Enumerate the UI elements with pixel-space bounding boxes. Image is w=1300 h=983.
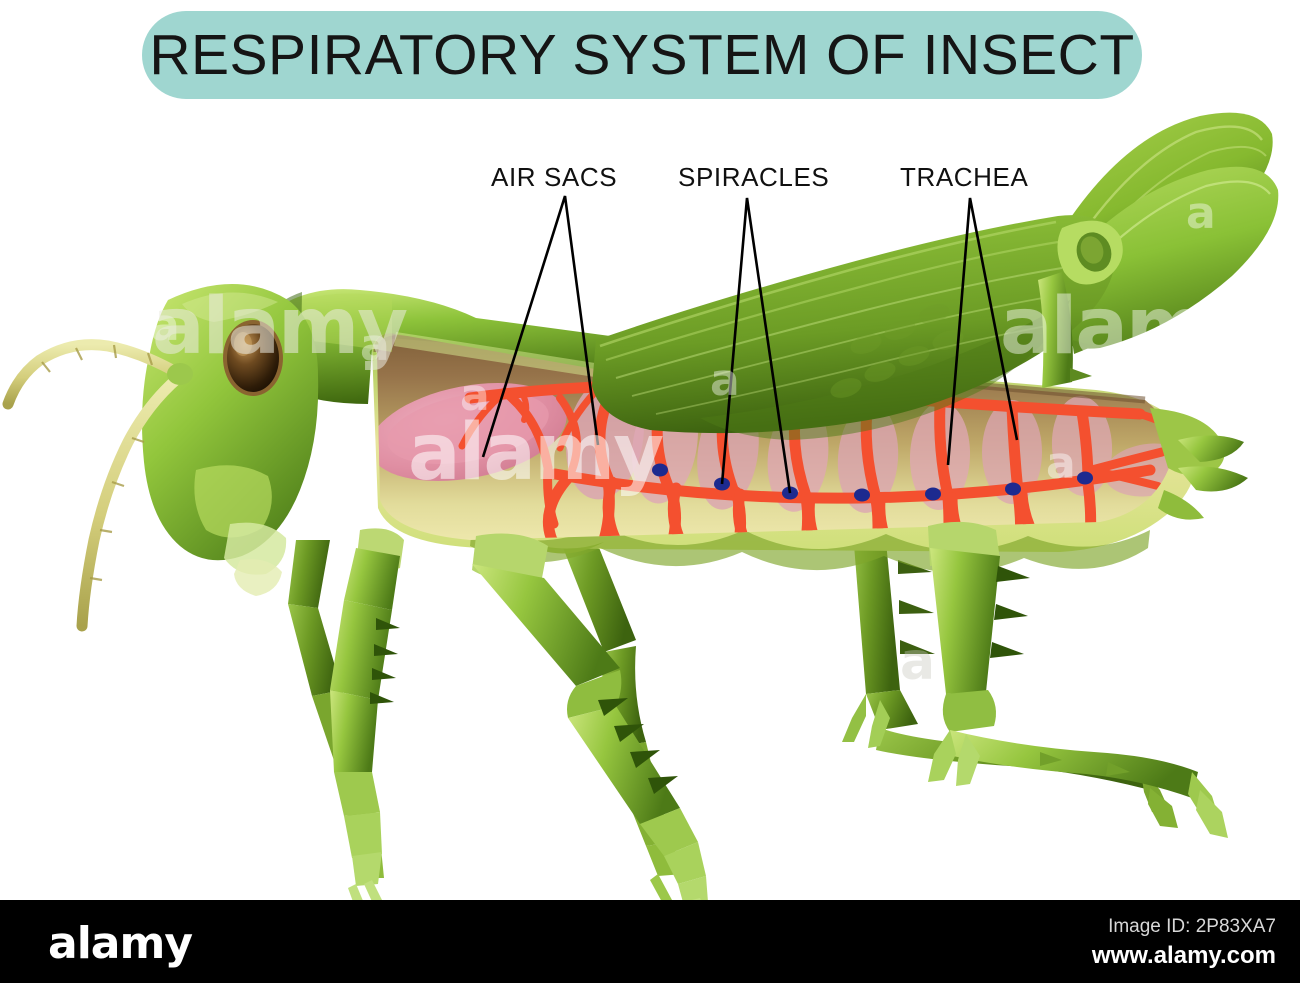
alamy-logo: alamy: [48, 918, 192, 969]
footer-bar: alamy Image ID: 2P83XA7 www.alamy.com: [0, 900, 1300, 983]
title-banner: RESPIRATORY SYSTEM OF INSECT: [142, 11, 1142, 99]
insect-illustration: [0, 0, 1300, 983]
label-trachea: TRACHEA: [900, 162, 1028, 193]
hind-leg-far: [842, 520, 1178, 828]
head: [142, 284, 318, 596]
footer-url: www.alamy.com: [976, 942, 1276, 970]
antenna-socket: [167, 363, 193, 385]
hind-leg-near: [928, 522, 1228, 838]
diagram-canvas: a a a a a a a alamy alamy alamy alamy RE…: [0, 0, 1300, 983]
label-air-sacs: AIR SACS: [491, 162, 617, 193]
page-title: RESPIRATORY SYSTEM OF INSECT: [149, 22, 1134, 88]
footer-image-id: Image ID: 2P83XA7: [976, 916, 1276, 938]
compound-eye: [223, 320, 283, 396]
fore-leg-near: [330, 528, 404, 910]
label-spiracles: SPIRACLES: [678, 162, 829, 193]
